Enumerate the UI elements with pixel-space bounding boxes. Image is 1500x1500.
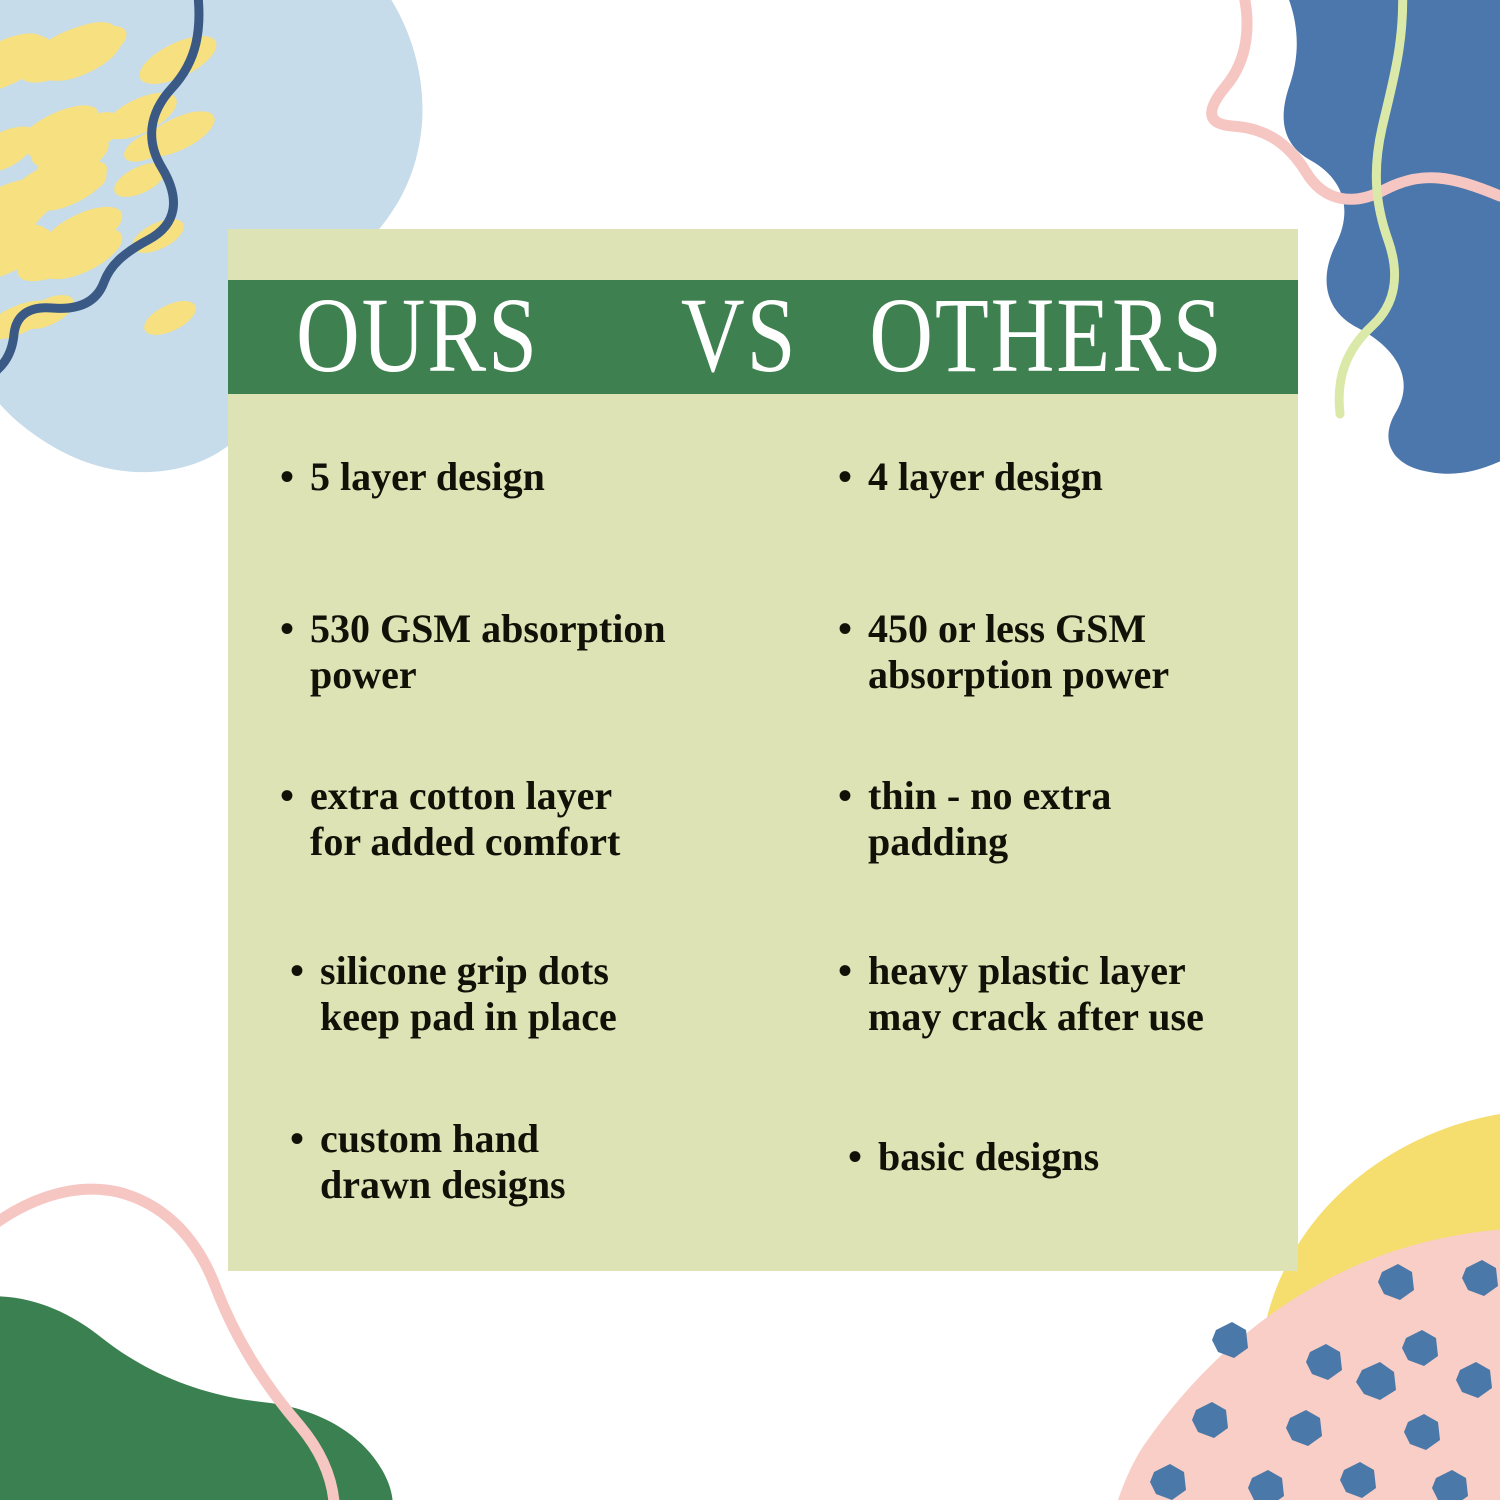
banner-title: OURS VS OTHERS xyxy=(296,281,1224,389)
yellow-confetti-placed xyxy=(0,16,133,347)
bullet-icon: • xyxy=(290,948,320,994)
list-item: • extra cotton layer for added comfort xyxy=(280,773,780,866)
blue-blob-top-right xyxy=(1268,0,1500,474)
list-item: • 4 layer design xyxy=(838,454,1298,500)
list-item-text: 5 layer design xyxy=(310,454,780,500)
list-item-text: custom hand drawn designs xyxy=(320,1116,790,1209)
list-item-text: basic designs xyxy=(878,1134,1308,1180)
list-item: • silicone grip dots keep pad in place xyxy=(290,948,790,1041)
light-green-squiggle-top-right xyxy=(1339,0,1403,414)
navy-squiggle-top-left xyxy=(0,0,199,382)
bullet-icon: • xyxy=(838,948,868,994)
column-others: • 4 layer design • 450 or less GSM absor… xyxy=(810,394,1298,1271)
list-item: • 450 or less GSM absorption power xyxy=(838,606,1298,699)
blue-dots-group xyxy=(1150,1260,1498,1500)
bullet-icon: • xyxy=(280,454,310,500)
bullet-icon: • xyxy=(280,606,310,652)
list-item: • custom hand drawn designs xyxy=(290,1116,790,1209)
column-ours: • 5 layer design • 530 GSM absorption po… xyxy=(228,394,810,1271)
comparison-card: OURS VS OTHERS • 5 layer design • 530 GS… xyxy=(228,229,1298,1271)
pink-squiggle-top-right xyxy=(1212,0,1500,199)
bullet-icon: • xyxy=(290,1116,320,1162)
list-item-text: extra cotton layer for added comfort xyxy=(310,773,780,866)
list-item-text: thin - no extra padding xyxy=(868,773,1298,866)
bullet-icon: • xyxy=(838,454,868,500)
bullet-icon: • xyxy=(848,1134,878,1180)
comparison-columns: • 5 layer design • 530 GSM absorption po… xyxy=(228,394,1298,1271)
list-item-text: heavy plastic layer may crack after use xyxy=(868,948,1298,1041)
card-banner: OURS VS OTHERS xyxy=(228,280,1298,394)
poster-canvas: OURS VS OTHERS • 5 layer design • 530 GS… xyxy=(0,0,1500,1500)
list-item-text: silicone grip dots keep pad in place xyxy=(320,948,790,1041)
list-item: • heavy plastic layer may crack after us… xyxy=(838,948,1298,1041)
list-item: • basic designs xyxy=(848,1134,1308,1180)
yellow-confetti-group xyxy=(0,23,117,247)
list-item-text: 530 GSM absorption power xyxy=(310,606,780,699)
list-item: • 5 layer design xyxy=(280,454,780,500)
bullet-icon: • xyxy=(280,773,310,819)
list-item: • thin - no extra padding xyxy=(838,773,1298,866)
list-item: • 530 GSM absorption power xyxy=(280,606,780,699)
dark-green-blob-bottom-left xyxy=(0,1296,393,1500)
bullet-icon: • xyxy=(838,606,868,652)
list-item-text: 4 layer design xyxy=(868,454,1298,500)
list-item-text: 450 or less GSM absorption power xyxy=(868,606,1298,699)
bullet-icon: • xyxy=(838,773,868,819)
yellow-confetti-final xyxy=(0,12,223,342)
